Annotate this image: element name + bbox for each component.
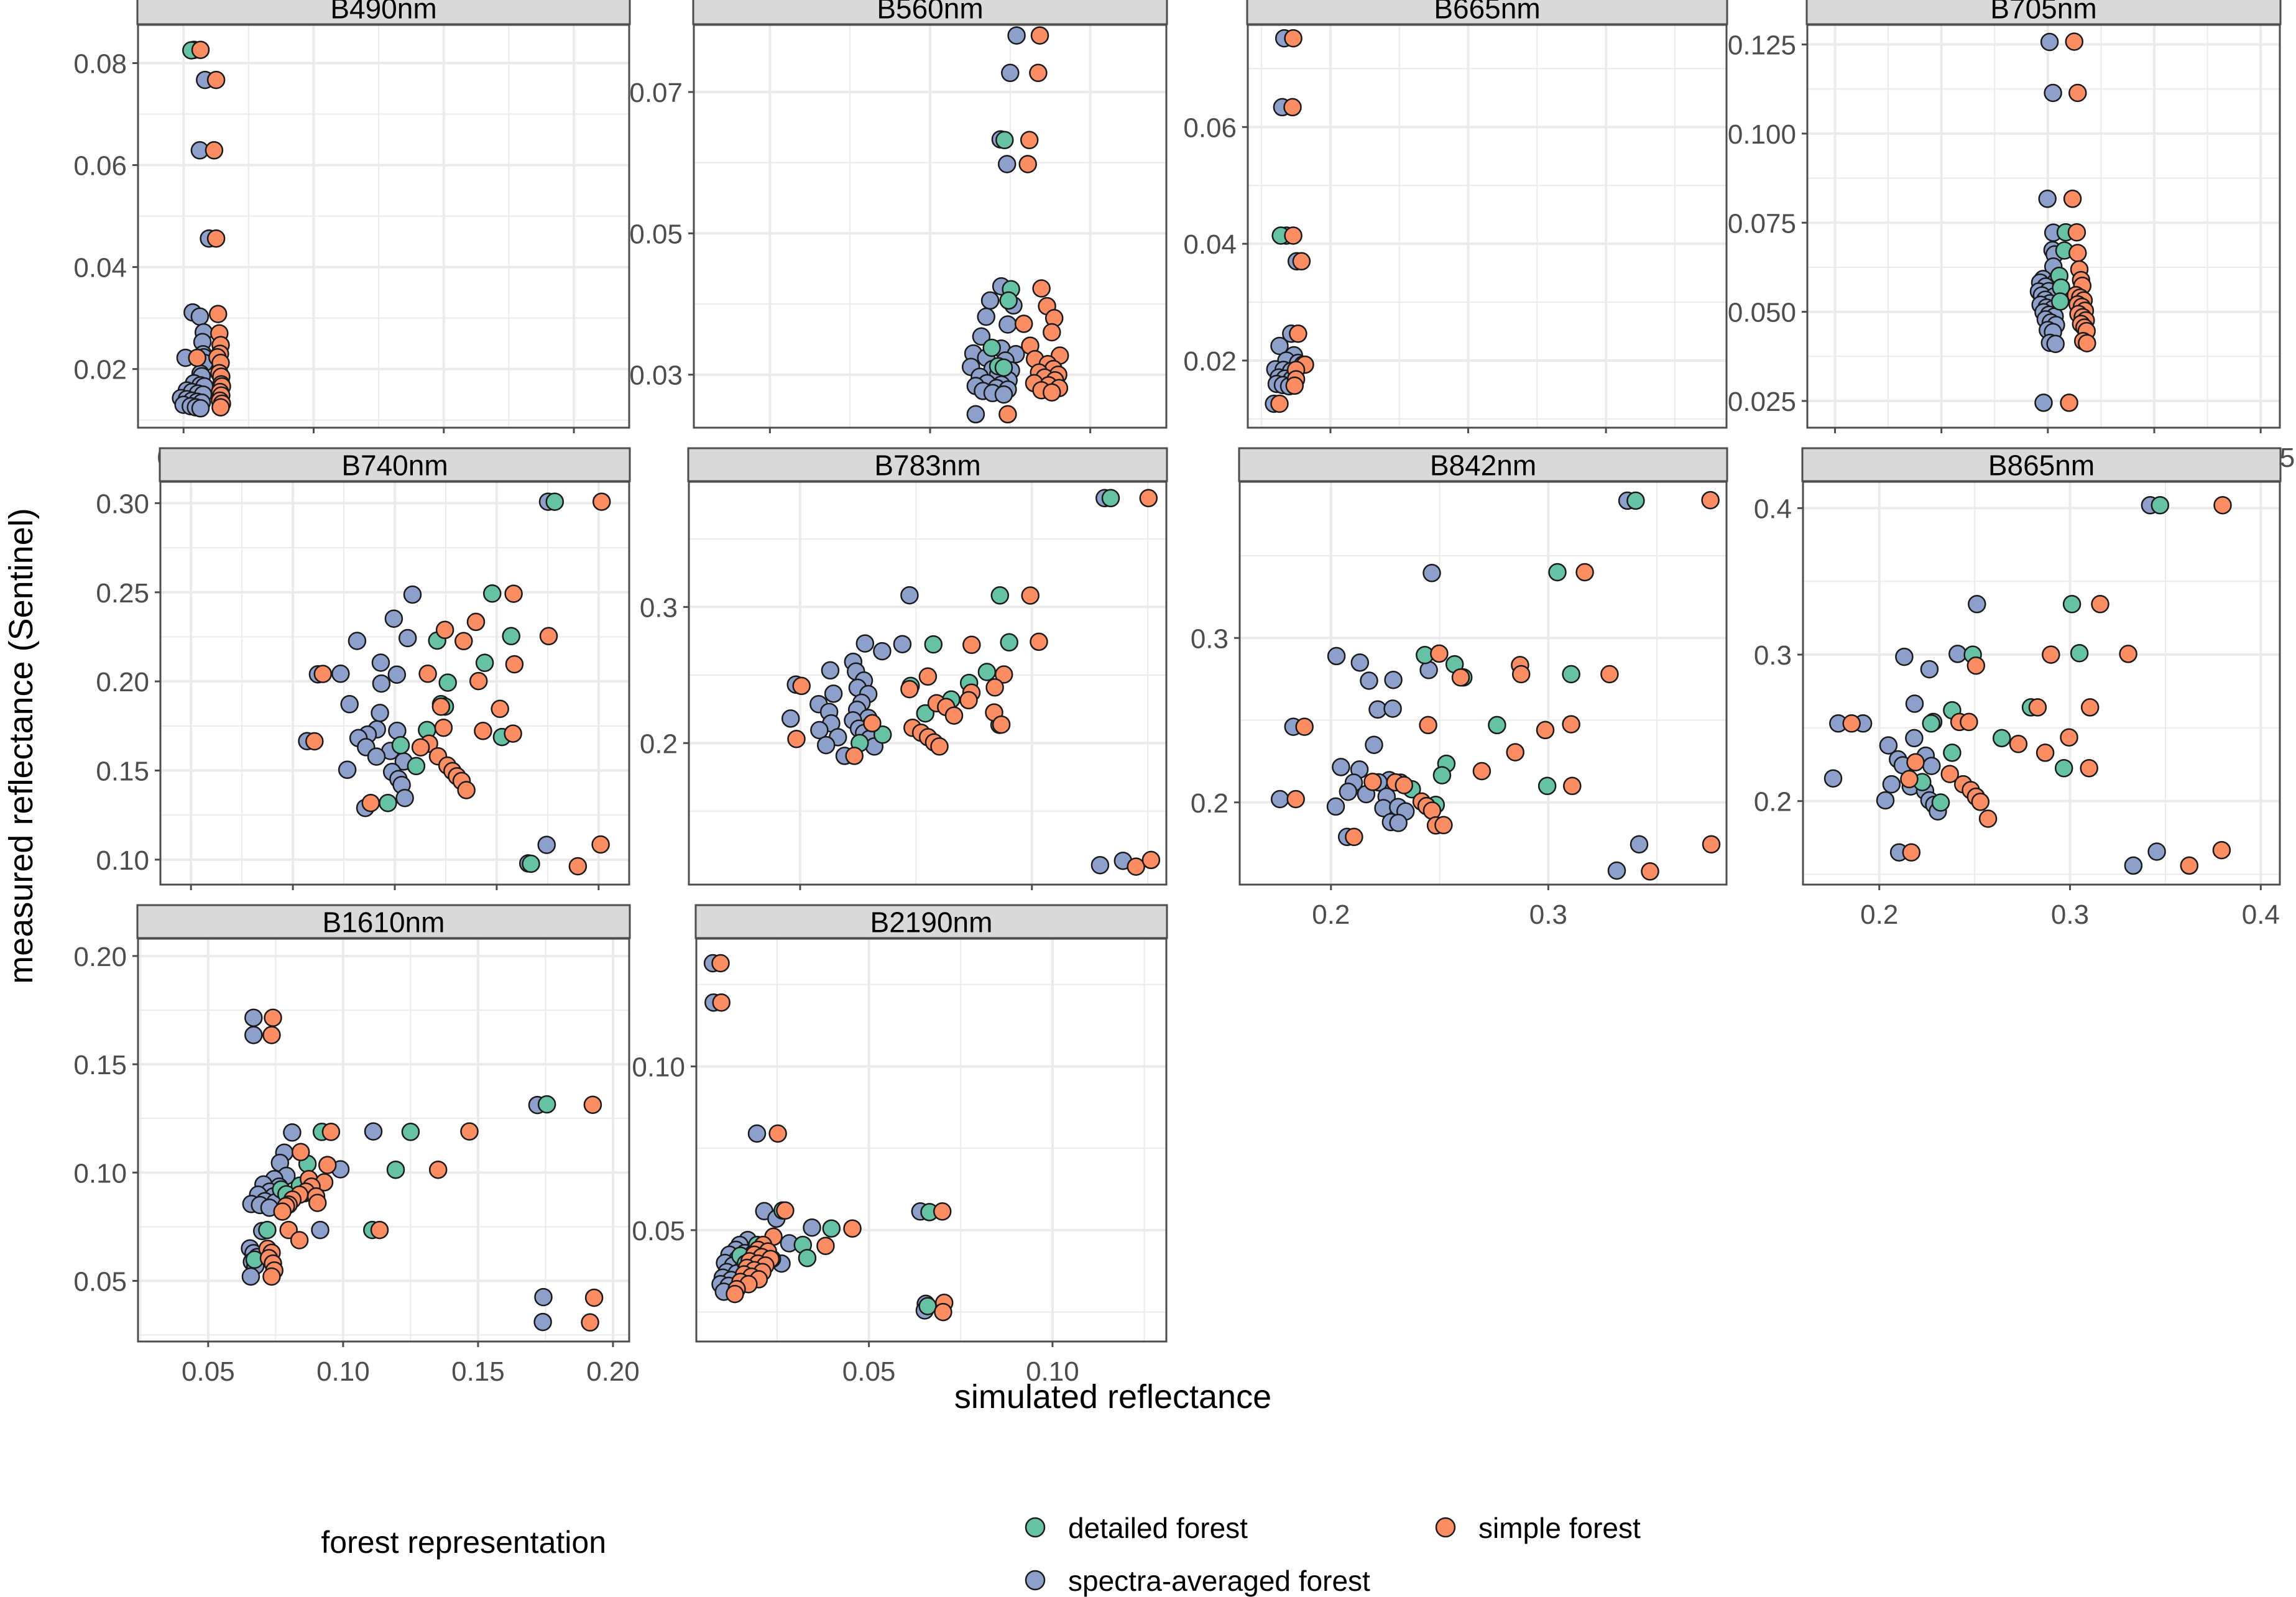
data-point — [389, 666, 405, 683]
data-point — [245, 1027, 262, 1044]
data-point — [306, 733, 323, 750]
data-point — [371, 1222, 388, 1238]
data-point — [1972, 793, 1989, 810]
data-point — [1396, 777, 1413, 794]
data-point — [823, 1220, 840, 1237]
data-point — [2082, 699, 2098, 716]
data-point — [804, 1219, 821, 1236]
data-point — [1008, 27, 1025, 44]
data-point — [874, 643, 890, 660]
legend-item-label: spectra-averaged forest — [1068, 1565, 1370, 1597]
data-point — [1020, 156, 1036, 173]
data-point — [995, 359, 1012, 376]
x-tick-label: 0.3 — [1529, 900, 1567, 930]
y-tick-label: 0.02 — [73, 355, 127, 385]
y-tick-label: 0.2 — [1754, 787, 1792, 817]
data-point — [584, 1097, 601, 1113]
data-point — [782, 710, 799, 727]
data-point — [341, 696, 358, 712]
data-point — [2069, 85, 2086, 101]
data-point — [274, 1204, 291, 1220]
data-point — [961, 692, 977, 709]
data-point — [593, 494, 610, 510]
data-point — [492, 701, 509, 717]
data-point — [1608, 862, 1625, 879]
data-point — [799, 1250, 816, 1266]
data-point — [712, 955, 729, 972]
data-point — [2063, 596, 2080, 612]
legend-key-swatch — [1026, 1518, 1044, 1537]
data-point — [770, 1125, 786, 1142]
data-point — [503, 628, 520, 645]
data-point — [1923, 715, 1940, 732]
data-point — [1030, 65, 1046, 81]
data-point — [2064, 190, 2081, 207]
data-point — [1577, 564, 1593, 581]
data-point — [793, 678, 810, 694]
y-tick-label: 0.2 — [1191, 788, 1229, 819]
data-point — [291, 1232, 308, 1249]
data-point — [323, 1123, 339, 1140]
data-point — [1513, 666, 1529, 683]
data-point — [777, 1202, 793, 1219]
data-point — [2037, 744, 2054, 761]
data-point — [1703, 836, 1720, 853]
data-point — [901, 587, 918, 604]
data-point — [2061, 729, 2078, 746]
y-tick-label: 0.02 — [1183, 346, 1237, 377]
facet-panel-B560nm: B560nm0.030.050.070.030.050.07 — [629, 0, 1167, 473]
data-point — [1564, 778, 1580, 794]
data-point — [458, 782, 475, 799]
facet-panel-B842nm: B842nm0.20.30.20.3 — [1191, 448, 1727, 930]
data-point — [1092, 857, 1109, 873]
data-point — [1001, 634, 1018, 651]
data-point — [1352, 654, 1368, 671]
data-point — [1021, 132, 1038, 149]
data-point — [992, 587, 1008, 604]
data-point — [934, 1203, 951, 1220]
data-point — [2125, 857, 2142, 874]
x-tick-label: 0.2 — [1312, 900, 1350, 930]
y-tick-label: 0.06 — [73, 151, 127, 182]
data-point — [996, 132, 1013, 149]
facet-strip-label: B560nm — [877, 0, 983, 25]
facet-strip-label: B842nm — [1430, 449, 1536, 482]
x-tick-label: 0.15 — [451, 1356, 505, 1387]
data-point — [1877, 792, 1894, 809]
data-point — [1993, 730, 2010, 747]
data-point — [2149, 844, 2165, 860]
data-point — [2045, 85, 2062, 101]
data-point — [505, 725, 522, 742]
data-point — [2039, 190, 2056, 207]
y-tick-label: 0.05 — [629, 219, 683, 249]
data-point — [339, 762, 356, 778]
data-point — [372, 655, 389, 671]
data-point — [999, 406, 1016, 423]
data-point — [844, 1220, 861, 1237]
data-point — [749, 1125, 765, 1142]
data-point — [857, 635, 874, 652]
data-point — [506, 656, 523, 673]
data-point — [1896, 648, 1912, 665]
y-tick-label: 0.15 — [96, 756, 149, 786]
data-point — [312, 1222, 329, 1238]
data-point — [1143, 852, 1160, 868]
data-point — [1102, 490, 1119, 507]
x-tick-label: 0.05 — [182, 1356, 235, 1387]
data-point — [470, 673, 487, 689]
data-point — [1271, 791, 1288, 808]
y-tick-label: 0.15 — [73, 1050, 127, 1080]
data-point — [999, 316, 1016, 333]
data-point — [2010, 735, 2027, 752]
data-point — [263, 1027, 280, 1044]
data-point — [208, 230, 224, 247]
facet-panel-B865nm: B865nm0.20.30.40.20.30.4 — [1754, 448, 2280, 930]
panel-background — [1803, 482, 2280, 885]
facet-strip-label: B865nm — [1988, 449, 2095, 482]
data-point — [1031, 27, 1048, 44]
data-point — [946, 707, 962, 724]
data-point — [998, 156, 1015, 173]
data-point — [979, 664, 995, 681]
data-point — [404, 586, 421, 603]
data-point — [1340, 783, 1357, 800]
data-point — [1033, 280, 1050, 297]
legend-key-swatch — [1026, 1571, 1044, 1590]
data-point — [1980, 811, 1996, 827]
data-point — [1507, 744, 1524, 761]
data-point — [1271, 395, 1288, 412]
data-point — [1537, 722, 1554, 739]
data-point — [931, 738, 948, 755]
data-point — [582, 1314, 599, 1331]
data-point — [1932, 794, 1949, 811]
facet-strip-label: B665nm — [1434, 0, 1540, 25]
facet-strip-label: B1610nm — [323, 906, 445, 939]
data-point — [1421, 661, 1437, 678]
data-point — [1968, 596, 1985, 612]
data-point — [1473, 763, 1490, 780]
data-point — [436, 622, 453, 638]
legend-key-swatch — [1436, 1518, 1455, 1537]
data-point — [192, 400, 209, 417]
data-point — [263, 1268, 280, 1285]
data-point — [817, 1238, 834, 1254]
y-tick-label: 0.03 — [629, 361, 683, 391]
data-point — [713, 994, 730, 1011]
data-point — [540, 628, 557, 645]
facet-strip-label: B740nm — [341, 449, 448, 482]
data-point — [1435, 817, 1452, 834]
data-point — [2181, 857, 2198, 874]
panel-background — [1248, 25, 1727, 428]
facet-panel-B665nm: B665nm0.020.040.060.020.040.06 — [1183, 0, 1727, 473]
data-point — [392, 737, 409, 753]
data-point — [569, 858, 586, 875]
data-point — [1631, 836, 1648, 853]
data-point — [433, 698, 450, 715]
data-point — [1883, 776, 1900, 793]
data-point — [385, 610, 402, 627]
data-point — [379, 794, 396, 811]
data-point — [1549, 564, 1566, 581]
data-point — [1825, 770, 1842, 787]
data-point — [1140, 490, 1157, 507]
data-point — [1345, 829, 1362, 845]
legend-item-label: simple forest — [1478, 1512, 1641, 1544]
y-tick-label: 0.20 — [73, 942, 127, 972]
y-tick-label: 0.3 — [1191, 624, 1229, 654]
data-point — [402, 1123, 419, 1140]
data-point — [982, 292, 998, 309]
data-point — [788, 730, 805, 747]
panel-background — [1807, 25, 2280, 428]
legend-item-label: detailed forest — [1068, 1512, 1248, 1544]
data-point — [242, 1268, 259, 1285]
y-tick-label: 0.2 — [640, 729, 678, 759]
x-tick-label: 0.3 — [2051, 900, 2089, 930]
data-point — [399, 630, 416, 647]
data-point — [1022, 587, 1039, 604]
data-point — [967, 406, 984, 423]
data-point — [984, 339, 1000, 356]
data-point — [372, 704, 389, 721]
data-point — [1968, 657, 1985, 674]
data-point — [978, 308, 995, 325]
data-point — [1128, 858, 1145, 875]
y-tick-label: 0.05 — [632, 1216, 685, 1246]
data-point — [1015, 315, 1032, 332]
facet-panel-B740nm: B740nm0.100.150.200.250.300.100.150.200.… — [96, 448, 630, 930]
y-tick-label: 0.125 — [1728, 30, 1796, 61]
data-point — [412, 739, 429, 756]
data-point — [920, 1298, 936, 1315]
data-point — [387, 1161, 404, 1178]
data-point — [408, 758, 425, 775]
data-point — [1286, 377, 1303, 394]
data-point — [505, 586, 522, 602]
data-point — [332, 665, 349, 682]
data-point — [1420, 717, 1437, 734]
data-point — [1289, 325, 1306, 342]
data-point — [1539, 778, 1556, 794]
data-point — [440, 674, 456, 691]
data-point — [894, 636, 911, 653]
y-tick-label: 0.075 — [1728, 208, 1796, 239]
data-point — [1906, 696, 1923, 712]
data-point — [2042, 647, 2059, 663]
data-point — [1002, 65, 1018, 81]
data-point — [993, 716, 1010, 733]
data-point — [2078, 335, 2095, 352]
data-point — [1949, 645, 1966, 662]
data-point — [1390, 814, 1407, 831]
data-point — [934, 1304, 951, 1320]
facet-panel-B705nm: B705nm0.0250.0500.0750.1000.1250.0250.05… — [1728, 0, 2295, 473]
data-point — [189, 349, 206, 366]
data-point — [864, 715, 880, 732]
x-tick-label: 0.4 — [2242, 900, 2280, 930]
data-point — [212, 399, 229, 416]
figure-root: B490nm0.020.040.060.080.020.040.060.08B5… — [0, 0, 2296, 1597]
data-point — [818, 737, 834, 753]
x-tick-label: 0.2 — [1860, 900, 1898, 930]
data-point — [474, 722, 491, 739]
y-tick-label: 0.30 — [96, 489, 149, 519]
x-tick-label: 0.05 — [842, 1356, 896, 1387]
y-tick-label: 0.06 — [1183, 113, 1237, 143]
y-axis-title: measured reflectance (Sentinel) — [2, 508, 40, 983]
x-tick-label: 0.20 — [586, 1356, 640, 1387]
data-point — [2120, 645, 2137, 662]
data-point — [461, 1123, 478, 1140]
y-tick-label: 0.25 — [96, 578, 149, 609]
y-tick-label: 0.025 — [1728, 387, 1796, 417]
facet-strip-label: B705nm — [1990, 0, 2096, 25]
data-point — [365, 1123, 382, 1140]
y-tick-label: 0.10 — [96, 845, 149, 876]
data-point — [1288, 791, 1304, 808]
y-tick-label: 0.3 — [1754, 640, 1792, 671]
facet-panel-B490nm: B490nm0.020.040.060.080.020.040.060.08 — [73, 0, 630, 473]
data-point — [1627, 492, 1644, 509]
data-point — [468, 614, 484, 630]
data-point — [1424, 564, 1441, 581]
facet-strip-label: B2190nm — [870, 906, 993, 939]
data-point — [208, 71, 224, 88]
data-point — [2066, 34, 2083, 50]
data-point — [259, 1222, 275, 1238]
data-point — [1043, 384, 1060, 401]
legend-title: forest representation — [321, 1525, 606, 1560]
data-point — [420, 665, 436, 682]
facet-panel-B2190nm: B2190nm0.050.100.050.10 — [632, 905, 1167, 1387]
data-point — [476, 655, 493, 671]
data-point — [2092, 596, 2109, 612]
y-tick-label: 0.4 — [1754, 494, 1792, 524]
data-point — [1043, 324, 1060, 341]
x-axis-title: simulated reflectance — [954, 1378, 1271, 1415]
data-point — [523, 855, 540, 872]
data-point — [1843, 715, 1860, 732]
data-point — [1385, 701, 1401, 717]
y-tick-label: 0.07 — [629, 78, 683, 108]
data-point — [455, 633, 472, 650]
data-point — [1328, 648, 1345, 665]
data-point — [963, 637, 980, 653]
facet-panel-B783nm: B783nm0.20.30.20.3 — [640, 448, 1167, 930]
y-tick-label: 0.05 — [73, 1266, 127, 1297]
data-point — [925, 636, 942, 653]
y-tick-label: 0.10 — [73, 1158, 127, 1189]
data-point — [920, 668, 936, 685]
data-point — [1293, 253, 1310, 270]
data-point — [1327, 798, 1344, 815]
data-point — [538, 1096, 555, 1113]
data-point — [309, 1195, 326, 1212]
facet-strip-label: B490nm — [330, 0, 436, 25]
facet-panel-B1610nm: B1610nm0.050.100.150.200.050.100.150.20 — [73, 905, 639, 1387]
data-point — [1907, 754, 1924, 771]
data-point — [349, 633, 366, 650]
data-point — [535, 1314, 551, 1330]
y-tick-label: 0.3 — [640, 592, 678, 623]
data-point — [1563, 716, 1580, 733]
data-point — [1434, 767, 1450, 784]
data-point — [825, 685, 842, 702]
data-point — [2068, 224, 2085, 241]
data-point — [846, 747, 863, 764]
data-point — [397, 789, 413, 806]
data-point — [284, 1124, 300, 1141]
legend-item-spectra-averaged-forest[interactable]: spectra-averaged forest — [1026, 1565, 1370, 1597]
data-point — [1000, 292, 1017, 309]
data-point — [1366, 737, 1383, 753]
data-point — [586, 1289, 602, 1306]
data-point — [592, 836, 609, 853]
y-tick-label: 0.10 — [632, 1052, 685, 1082]
data-point — [1364, 773, 1381, 790]
data-point — [319, 1157, 336, 1174]
data-point — [901, 681, 918, 697]
data-point — [2041, 34, 2058, 50]
data-point — [546, 494, 563, 510]
data-point — [1332, 758, 1349, 775]
data-point — [987, 679, 1003, 696]
data-point — [1563, 666, 1580, 683]
data-point — [1702, 492, 1719, 509]
x-tick-label: 0.10 — [316, 1356, 370, 1387]
data-point — [1960, 714, 1977, 730]
data-point — [206, 142, 223, 159]
data-point — [1431, 645, 1447, 662]
data-point — [245, 1010, 262, 1026]
y-tick-label: 0.04 — [73, 253, 127, 283]
scatter-facet-figure: B490nm0.020.040.060.080.020.040.060.08B5… — [0, 0, 2296, 1597]
data-point — [2071, 645, 2088, 661]
data-point — [2213, 842, 2230, 858]
data-point — [430, 1161, 446, 1178]
data-point — [822, 662, 839, 679]
data-point — [292, 1144, 309, 1161]
data-point — [1285, 228, 1302, 244]
data-point — [315, 666, 331, 683]
data-point — [435, 719, 452, 736]
y-tick-label: 0.050 — [1728, 298, 1796, 328]
data-point — [1361, 673, 1378, 689]
data-point — [535, 1289, 552, 1305]
data-point — [192, 42, 209, 58]
data-point — [2081, 760, 2098, 776]
data-point — [1921, 661, 1938, 678]
data-point — [1385, 671, 1402, 688]
data-point — [368, 748, 385, 765]
data-point — [2215, 497, 2231, 513]
data-point — [2036, 394, 2052, 411]
y-tick-label: 0.100 — [1728, 119, 1796, 150]
data-point — [362, 794, 379, 811]
panel-background — [1240, 482, 1727, 885]
data-point — [995, 386, 1012, 403]
y-tick-label: 0.20 — [96, 667, 149, 697]
data-point — [1906, 730, 1922, 747]
data-point — [373, 675, 390, 692]
data-point — [2152, 497, 2169, 513]
data-point — [1923, 758, 1940, 775]
